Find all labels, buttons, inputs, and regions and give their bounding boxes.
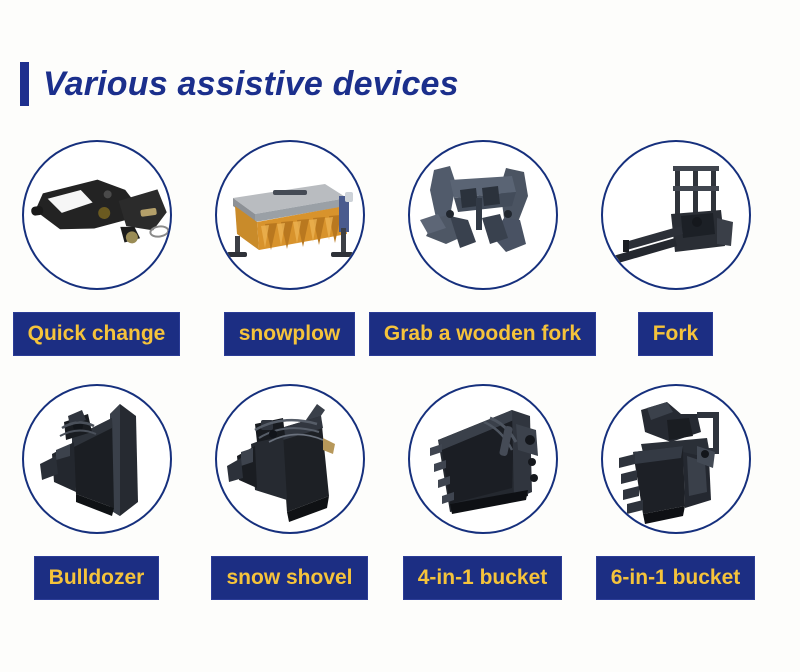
page-header: Various assistive devices (20, 60, 459, 108)
page-title: Various assistive devices (43, 67, 459, 101)
device-card-4in1-bucket[interactable]: 4-in-1 bucket (386, 384, 579, 600)
pallet-fork-photo (603, 142, 749, 288)
device-card-6in1-bucket[interactable]: 6-in-1 bucket (579, 384, 772, 600)
device-row: Quick change (0, 140, 800, 356)
device-label-wrap: snow shovel (193, 556, 386, 600)
device-image-frame (601, 140, 751, 290)
six-in-one-bucket-photo (603, 386, 749, 532)
log-grapple-photo (410, 142, 556, 288)
quick-change-attachment-photo (24, 142, 170, 288)
device-card-bulldozer[interactable]: Bulldozer (0, 384, 193, 600)
snow-blade-photo (217, 386, 363, 532)
device-image-frame (215, 384, 365, 534)
dozer-blade-photo (24, 386, 170, 532)
device-card-quick-change[interactable]: Quick change (0, 140, 193, 356)
device-label[interactable]: 4-in-1 bucket (403, 556, 563, 600)
device-card-fork[interactable]: Fork (579, 140, 772, 356)
device-label-wrap: snowplow (193, 312, 386, 356)
device-label[interactable]: snowplow (224, 312, 356, 356)
device-label[interactable]: Grab a wooden fork (369, 312, 596, 356)
device-label[interactable]: Bulldozer (34, 556, 160, 600)
device-image-frame (22, 384, 172, 534)
device-card-snow-shovel[interactable]: snow shovel (193, 384, 386, 600)
device-label[interactable]: Quick change (13, 312, 181, 356)
device-label-wrap: 4-in-1 bucket (386, 556, 579, 600)
device-row: Bulldozer (0, 384, 800, 600)
four-in-one-bucket-photo (410, 386, 556, 532)
device-label[interactable]: Fork (638, 312, 714, 356)
snowplow-brush-photo (217, 142, 363, 288)
title-accent-bar (20, 62, 29, 106)
device-label[interactable]: snow shovel (211, 556, 367, 600)
device-image-frame (22, 140, 172, 290)
device-grid: Quick change (0, 140, 800, 600)
device-image-frame (601, 384, 751, 534)
assistive-devices-page: Various assistive devices (0, 0, 800, 672)
device-image-frame (215, 140, 365, 290)
device-label-wrap: Quick change (0, 312, 193, 356)
device-label-wrap: Fork (579, 312, 772, 356)
device-image-frame (408, 140, 558, 290)
device-label-wrap: 6-in-1 bucket (579, 556, 772, 600)
device-card-snowplow[interactable]: snowplow (193, 140, 386, 356)
device-card-log-grapple[interactable]: Grab a wooden fork (386, 140, 579, 356)
device-label[interactable]: 6-in-1 bucket (596, 556, 756, 600)
device-label-wrap: Grab a wooden fork (386, 312, 579, 356)
device-image-frame (408, 384, 558, 534)
device-label-wrap: Bulldozer (0, 556, 193, 600)
